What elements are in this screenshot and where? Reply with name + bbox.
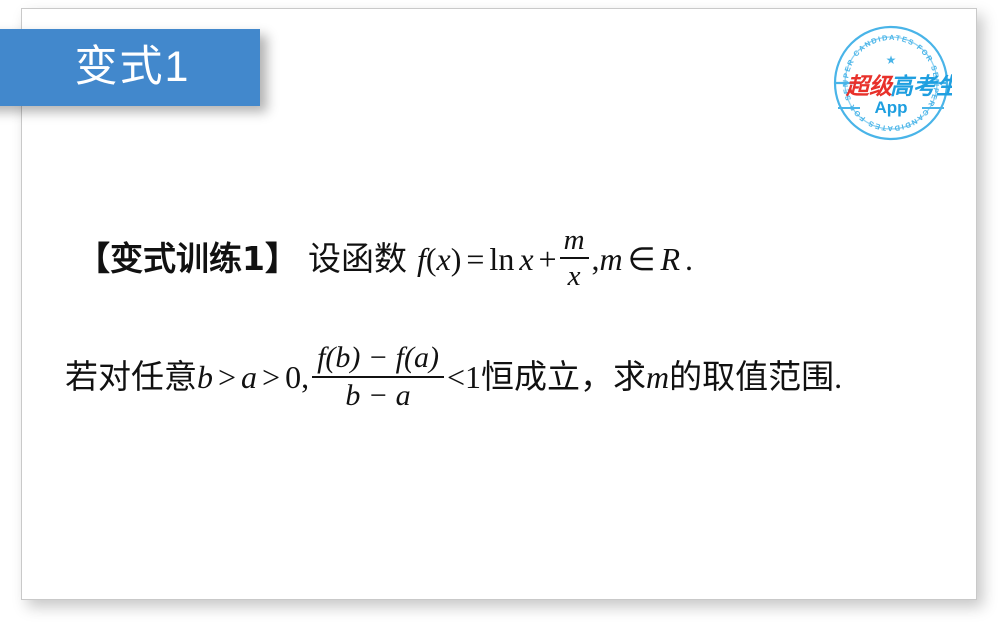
fraction-numerator: f(b) − f(a) (312, 341, 444, 375)
problem-line-1: 【变式训练1】 设函数 f ( x ) = ln x + m x , m (77, 225, 935, 294)
logo-wordmark-blue: 高考生 (890, 74, 952, 100)
problem-body: 【变式训练1】 设函数 f ( x ) = ln x + m x , m (55, 225, 935, 413)
fraction-bar (312, 376, 444, 378)
paren-open: ( (426, 241, 437, 278)
comma: , (301, 359, 309, 396)
fraction-bar (560, 257, 589, 259)
logo-app-label: App (874, 98, 907, 117)
slide-root: 变式1 SUPER CANDIDATES FOR SENT SUPER CAND… (0, 0, 1000, 623)
equals-sign: = (466, 241, 484, 278)
problem-line2-lead: 若对任意 (65, 360, 197, 395)
less-than-sign: < (447, 359, 465, 396)
element-of-symbol: ∈ (628, 240, 656, 278)
fraction-denominator: b − a (340, 379, 415, 413)
brand-logo: SUPER CANDIDATES FOR SENT SUPER CANDIDAT… (830, 22, 952, 144)
greater-than-1: > (218, 359, 236, 396)
comma: , (592, 241, 600, 278)
parameter-m: m (646, 359, 669, 396)
title-banner: 变式1 (0, 29, 260, 106)
problem-line2-tail: 恒成立，求 (481, 360, 646, 395)
paren-close: ) (451, 241, 462, 278)
zero: 0 (285, 359, 301, 396)
greater-than-2: > (262, 359, 280, 396)
period: . (685, 241, 693, 278)
plus-sign: + (539, 241, 557, 278)
problem-line-2: 若对任意 b > a > 0 , f(b) − f(a) b − a < 1 恒… (65, 342, 935, 413)
title-banner-label: 变式1 (49, 46, 191, 89)
difference-quotient-fraction: f(b) − f(a) b − a (312, 341, 444, 412)
fraction-numerator: m (560, 224, 589, 256)
logo-wordmark-red: 超级 (845, 74, 894, 100)
problem-label: 【变式训练1】 (77, 242, 298, 277)
fraction-m-over-x: m x (560, 224, 589, 293)
function-name: f (417, 241, 426, 278)
logo-star-icon: ★ (886, 53, 897, 67)
problem-line2-tail2: 的取值范围 (669, 360, 834, 395)
function-variable: x (437, 241, 451, 278)
ln-argument: x (519, 241, 533, 278)
variable-b: b (197, 359, 213, 396)
variable-a: a (241, 359, 257, 396)
period: . (834, 359, 842, 396)
problem-line1-lead: 设函数 (308, 242, 407, 277)
set-real-numbers: R (661, 241, 681, 278)
fraction-denominator: x (564, 260, 585, 292)
ln-operator: ln (489, 241, 514, 278)
one: 1 (465, 359, 481, 396)
parameter-m: m (600, 241, 623, 278)
